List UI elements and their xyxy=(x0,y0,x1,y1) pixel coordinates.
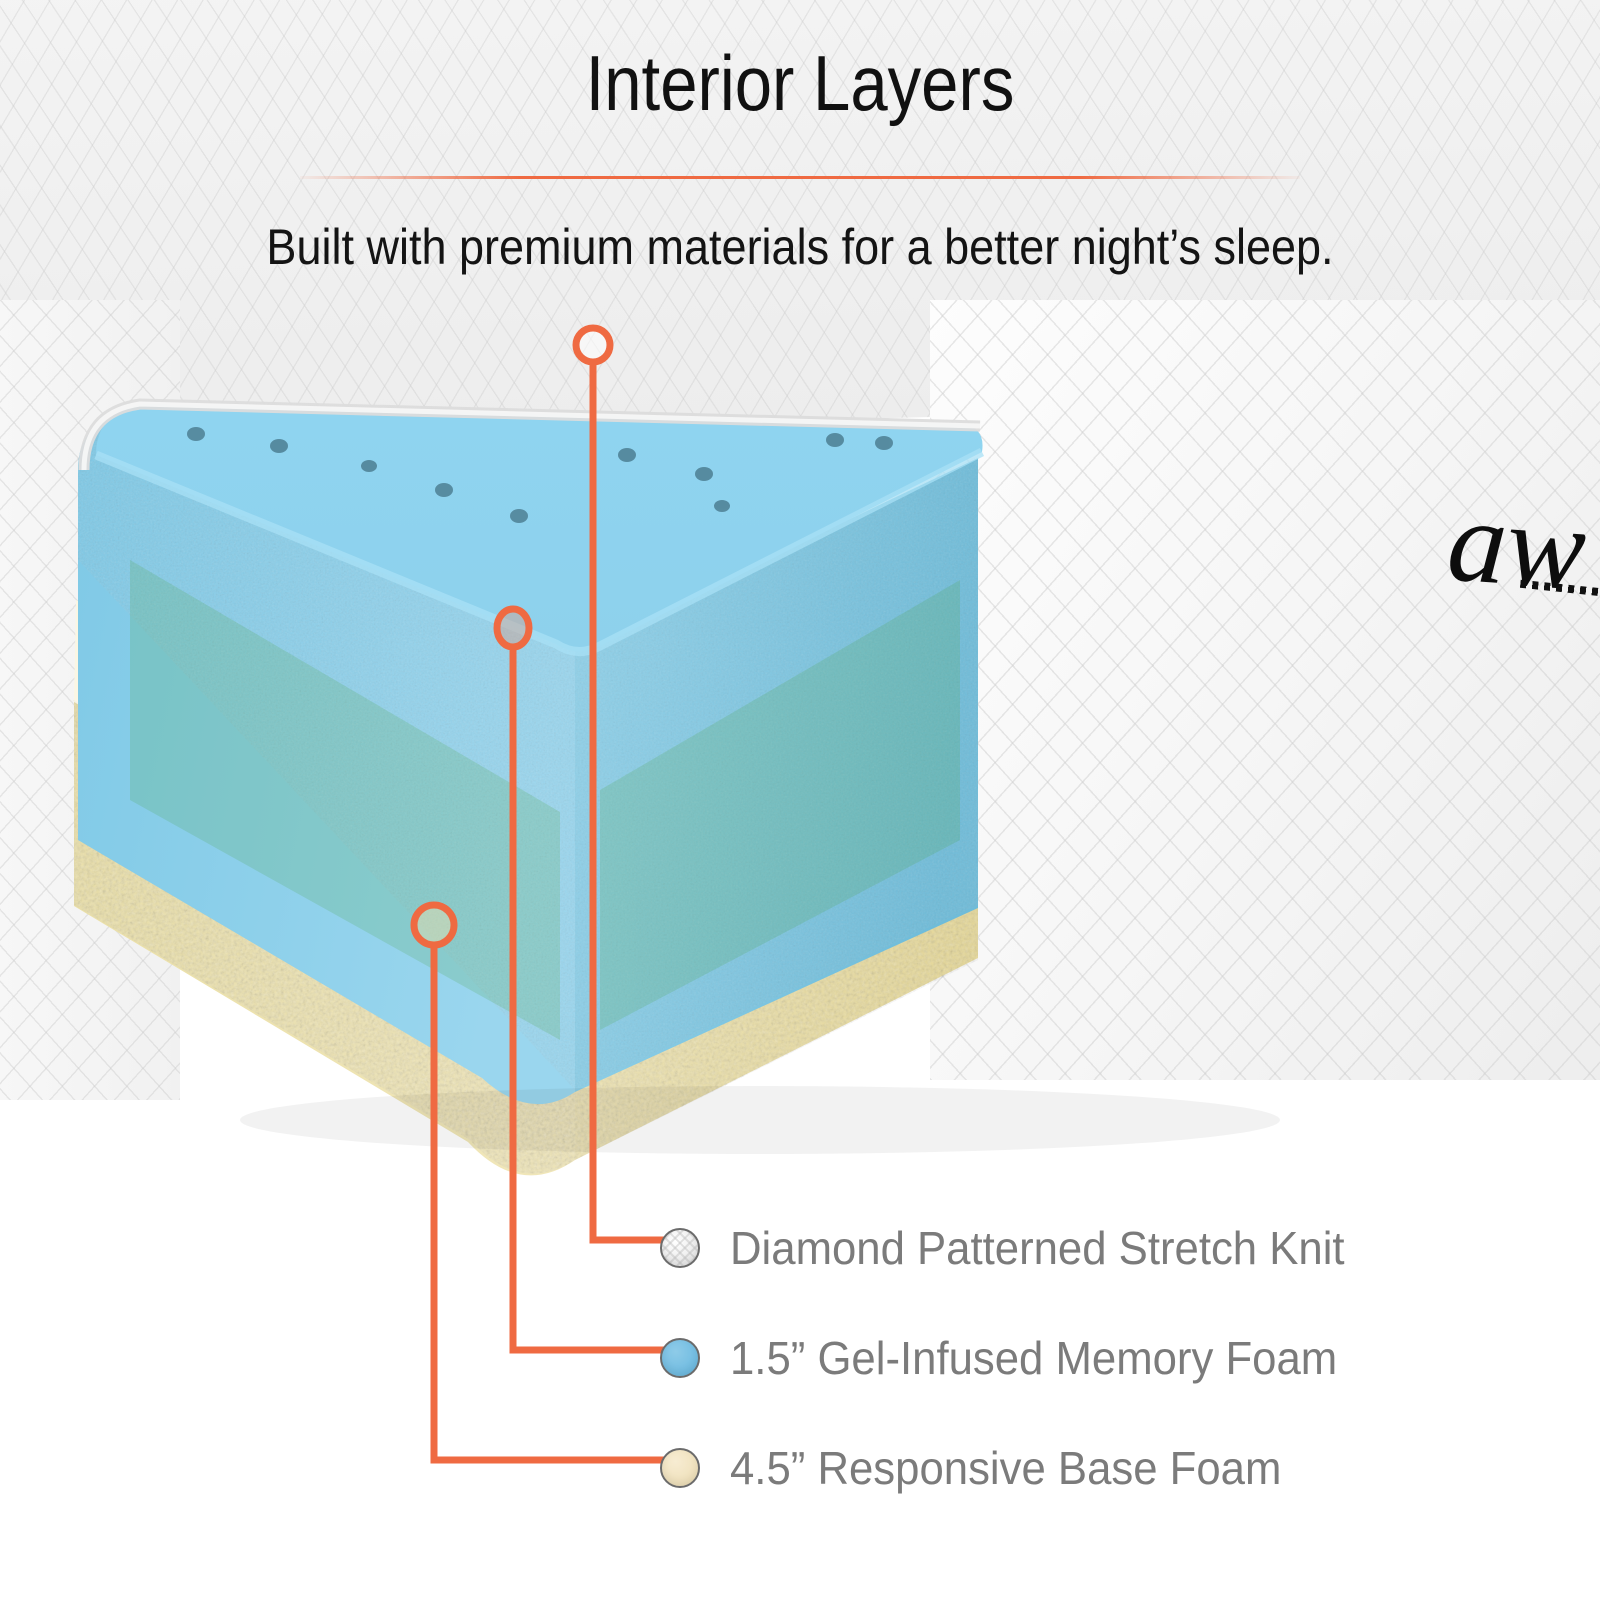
gel-foam-swatch-icon xyxy=(660,1338,700,1378)
base-foam-swatch-icon xyxy=(660,1448,700,1488)
header: Interior Layers Built with premium mater… xyxy=(0,0,1600,320)
page-title: Interior Layers xyxy=(112,40,1488,126)
legend-label-gel-foam: 1.5” Gel-Infused Memory Foam xyxy=(730,1332,1337,1384)
title-divider xyxy=(300,176,1300,179)
legend-item-gel-foam: 1.5” Gel-Infused Memory Foam xyxy=(660,1330,1369,1386)
legend-label-base-foam: 4.5” Responsive Base Foam xyxy=(730,1442,1281,1494)
product-infographic: aw Interior Layers Built with premium ma… xyxy=(0,0,1600,1600)
page-subtitle: Built with premium materials for a bette… xyxy=(80,216,1520,278)
legend-item-knit: Diamond Patterned Stretch Knit xyxy=(660,1220,1377,1276)
legend-label-knit: Diamond Patterned Stretch Knit xyxy=(730,1222,1345,1274)
knit-swatch-icon xyxy=(660,1228,700,1268)
legend-item-base-foam: 4.5” Responsive Base Foam xyxy=(660,1440,1310,1496)
